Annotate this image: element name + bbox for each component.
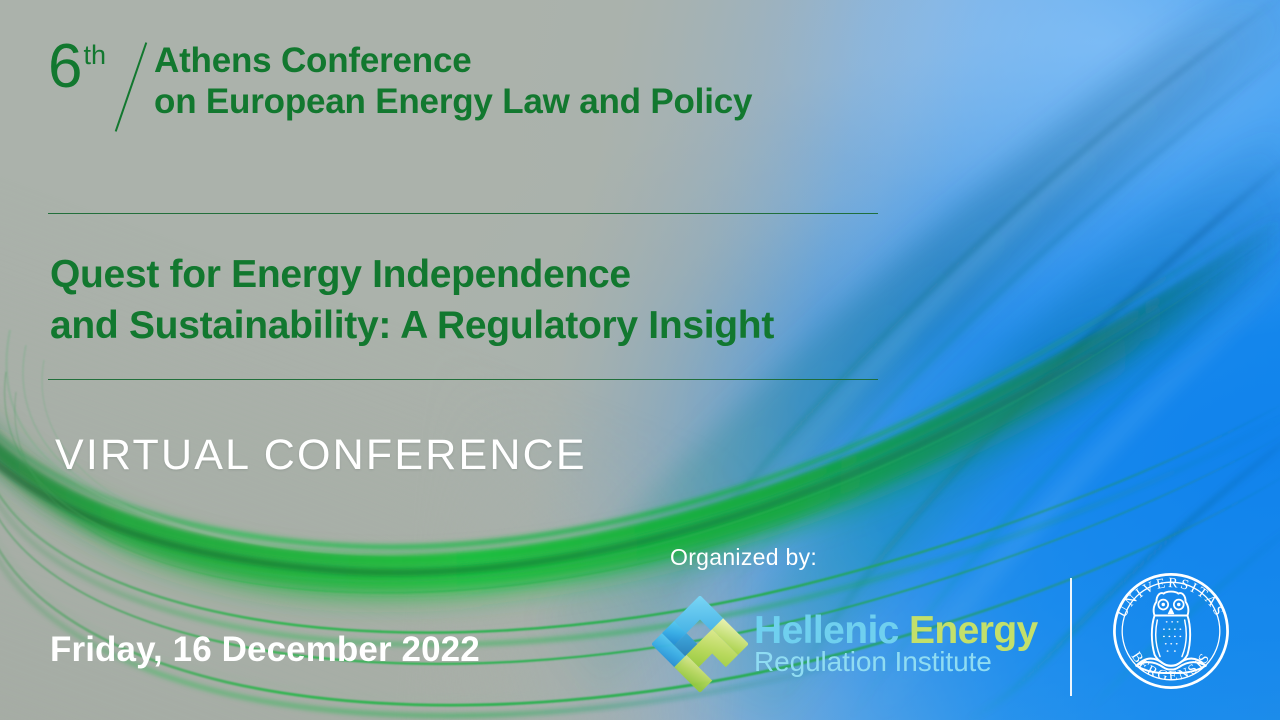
owl-figure — [1152, 592, 1190, 666]
ordinal-number: 6 — [48, 38, 81, 95]
conference-name: Athens Conference on European Energy Law… — [154, 40, 752, 123]
university-of-bergen-owl-seal-icon: UNIVERSITAS BERGENSIS — [1098, 558, 1244, 704]
event-format-label: VIRTUAL CONFERENCE — [55, 431, 587, 480]
page-title-line-1: Quest for Energy Independence — [50, 249, 774, 300]
page-title: Quest for Energy Independence and Sustai… — [50, 249, 774, 352]
conference-name-line-2: on European Energy Law and Policy — [154, 81, 752, 122]
ordinal-edition: 6 th — [48, 38, 106, 95]
logo-separator — [1070, 578, 1072, 696]
divider-rule-bottom — [48, 379, 878, 380]
hellenic-energy-regulation-institute-logo: Hellenic Energy Regulation Institute — [652, 596, 1038, 692]
conference-title-slide: 6 th Athens Conference on European Energ… — [0, 0, 1280, 720]
organized-by-caption: Organized by: — [670, 544, 817, 571]
page-title-line-2: and Sustainability: A Regulatory Insight — [50, 300, 774, 351]
ordinal-suffix: th — [83, 42, 106, 69]
divider-rule-top — [48, 213, 878, 214]
conference-header: 6 th Athens Conference on European Energ… — [48, 38, 752, 134]
event-date-label: Friday, 16 December 2022 — [50, 630, 480, 670]
hellenic-wordmark: Hellenic Energy Regulation Institute — [754, 611, 1038, 676]
forward-slash-icon — [108, 38, 152, 134]
hellenic-energy-chevron-mark-icon — [652, 596, 748, 692]
slide-content: 6 th Athens Conference on European Energ… — [0, 0, 1280, 720]
conference-name-line-1: Athens Conference — [154, 40, 752, 81]
